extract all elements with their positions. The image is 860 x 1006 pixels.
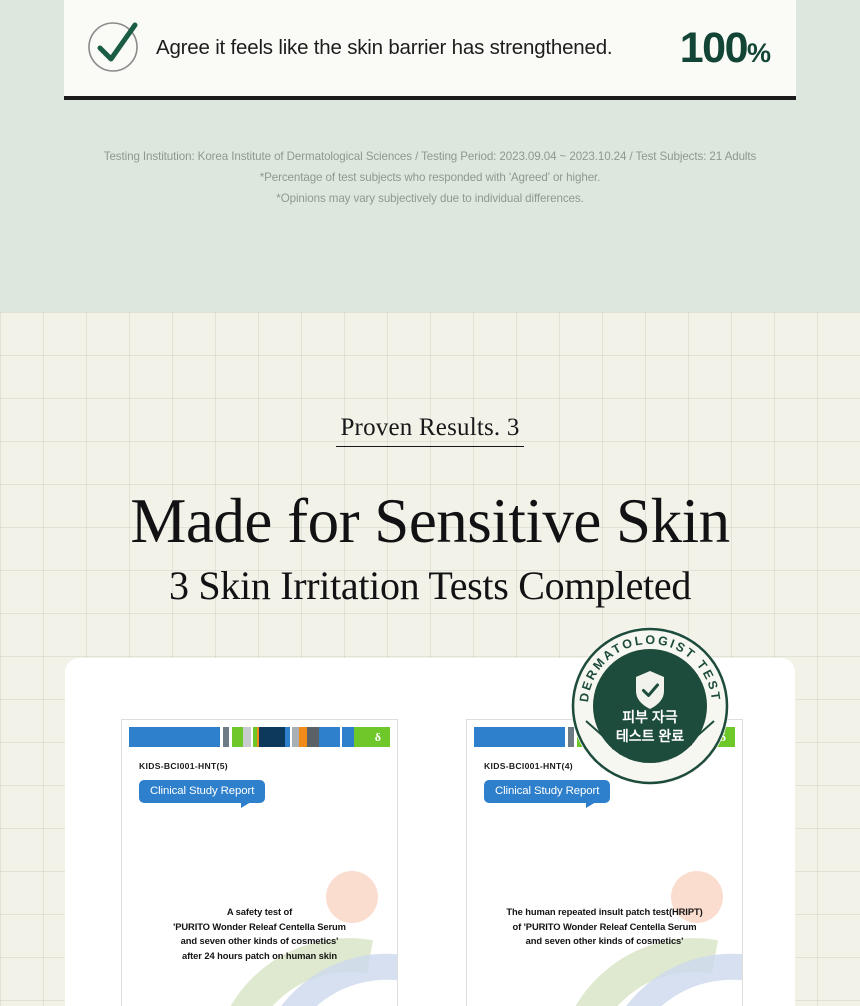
report-title-line: and seven other kinds of cosmetics'	[474, 934, 735, 949]
report-title-line: of 'PURITO Wonder Releaf Centella Serum	[474, 920, 735, 935]
colorbar-segment	[307, 727, 319, 747]
survey-result-banner: Agree it feels like the skin barrier has…	[64, 0, 796, 100]
colorbar-segment	[243, 727, 250, 747]
report-title: A safety test of 'PURITO Wonder Releaf C…	[129, 905, 390, 963]
colorbar-segment	[292, 727, 299, 747]
report-title: The human repeated insult patch test(HRI…	[474, 905, 735, 949]
colorbar-segment	[354, 727, 390, 747]
clinical-report-document[interactable]: δ KIDS-BCI001-HNT(5) Clinical Study Repo…	[121, 719, 398, 1006]
report-title-line: The human repeated insult patch test(HRI…	[474, 905, 735, 920]
page-title: Made for Sensitive Skin	[0, 484, 860, 558]
page-subtitle: 3 Skin Irritation Tests Completed	[0, 562, 860, 609]
report-colorbar: δ	[129, 727, 390, 747]
report-title-line: 'PURITO Wonder Releaf Centella Serum	[129, 920, 390, 935]
eyebrow-text: Proven Results. 3	[336, 414, 523, 447]
report-title-line: after 24 hours patch on human skin	[129, 949, 390, 964]
percentage-number: 100	[680, 24, 747, 73]
percentage-symbol: %	[747, 38, 770, 69]
disclaimer-line-3: *Opinions may vary subjectively due to i…	[0, 188, 860, 209]
institute-logo-icon: δ	[375, 729, 381, 745]
colorbar-segment	[474, 727, 565, 747]
report-code: KIDS-BCI001-HNT(5)	[139, 761, 380, 771]
check-circle-icon	[88, 21, 142, 75]
colorbar-segment	[129, 727, 220, 747]
report-title-line: and seven other kinds of cosmetics'	[129, 934, 390, 949]
disclaimer-line-2: *Percentage of test subjects who respond…	[0, 167, 860, 188]
colorbar-segment	[342, 727, 354, 747]
colorbar-segment	[259, 727, 285, 747]
survey-percentage: 100 %	[680, 24, 770, 73]
colorbar-segment	[319, 727, 340, 747]
survey-statement: Agree it feels like the skin barrier has…	[142, 36, 680, 60]
sensitive-skin-section: Proven Results. 3 Made for Sensitive Ski…	[0, 312, 860, 1006]
proven-results-summary-section: Agree it feels like the skin barrier has…	[0, 0, 860, 312]
disclaimer-line-1: Testing Institution: Korea Institute of …	[0, 146, 860, 167]
badge-line-2: 테스트 완료	[616, 728, 684, 744]
report-type-badge: Clinical Study Report	[139, 780, 265, 803]
colorbar-segment	[299, 727, 306, 747]
report-title-line: A safety test of	[129, 905, 390, 920]
badge-line-1: 피부 자극	[622, 709, 678, 725]
study-disclaimer: Testing Institution: Korea Institute of …	[0, 146, 860, 209]
colorbar-segment	[232, 727, 244, 747]
dermatologist-test-badge: DERMATOLOGIST TEST 피부임상연구센터 피부 자극 테스트 완료	[569, 625, 731, 787]
section-eyebrow: Proven Results. 3	[0, 414, 860, 442]
